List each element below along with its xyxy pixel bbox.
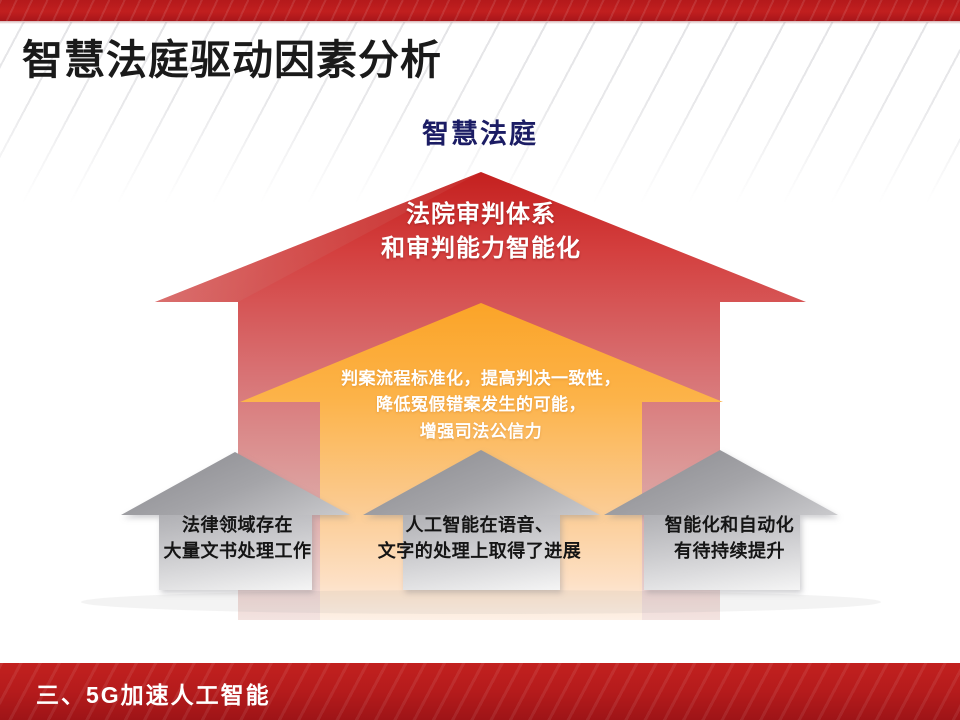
slide-canvas: 智慧法庭驱动因素分析 智慧法庭 <box>0 0 960 720</box>
page-title: 智慧法庭驱动因素分析 <box>22 38 442 83</box>
top-band-shadow <box>0 21 960 24</box>
gray-arrow-3-shaft-highlight <box>644 515 800 590</box>
gray-arrow-1-shaft-highlight <box>159 515 312 590</box>
top-red-band <box>0 0 960 21</box>
diagram-subtitle: 智慧法庭 <box>0 112 960 151</box>
gray-arrow-2-shaft-highlight <box>403 515 560 590</box>
section-footer-label: 三、5G加速人工智能 <box>36 676 271 710</box>
arrow-pyramid-diagram <box>0 150 960 620</box>
arrow-pyramid-svg <box>0 150 960 620</box>
ground-shadow <box>81 590 881 614</box>
